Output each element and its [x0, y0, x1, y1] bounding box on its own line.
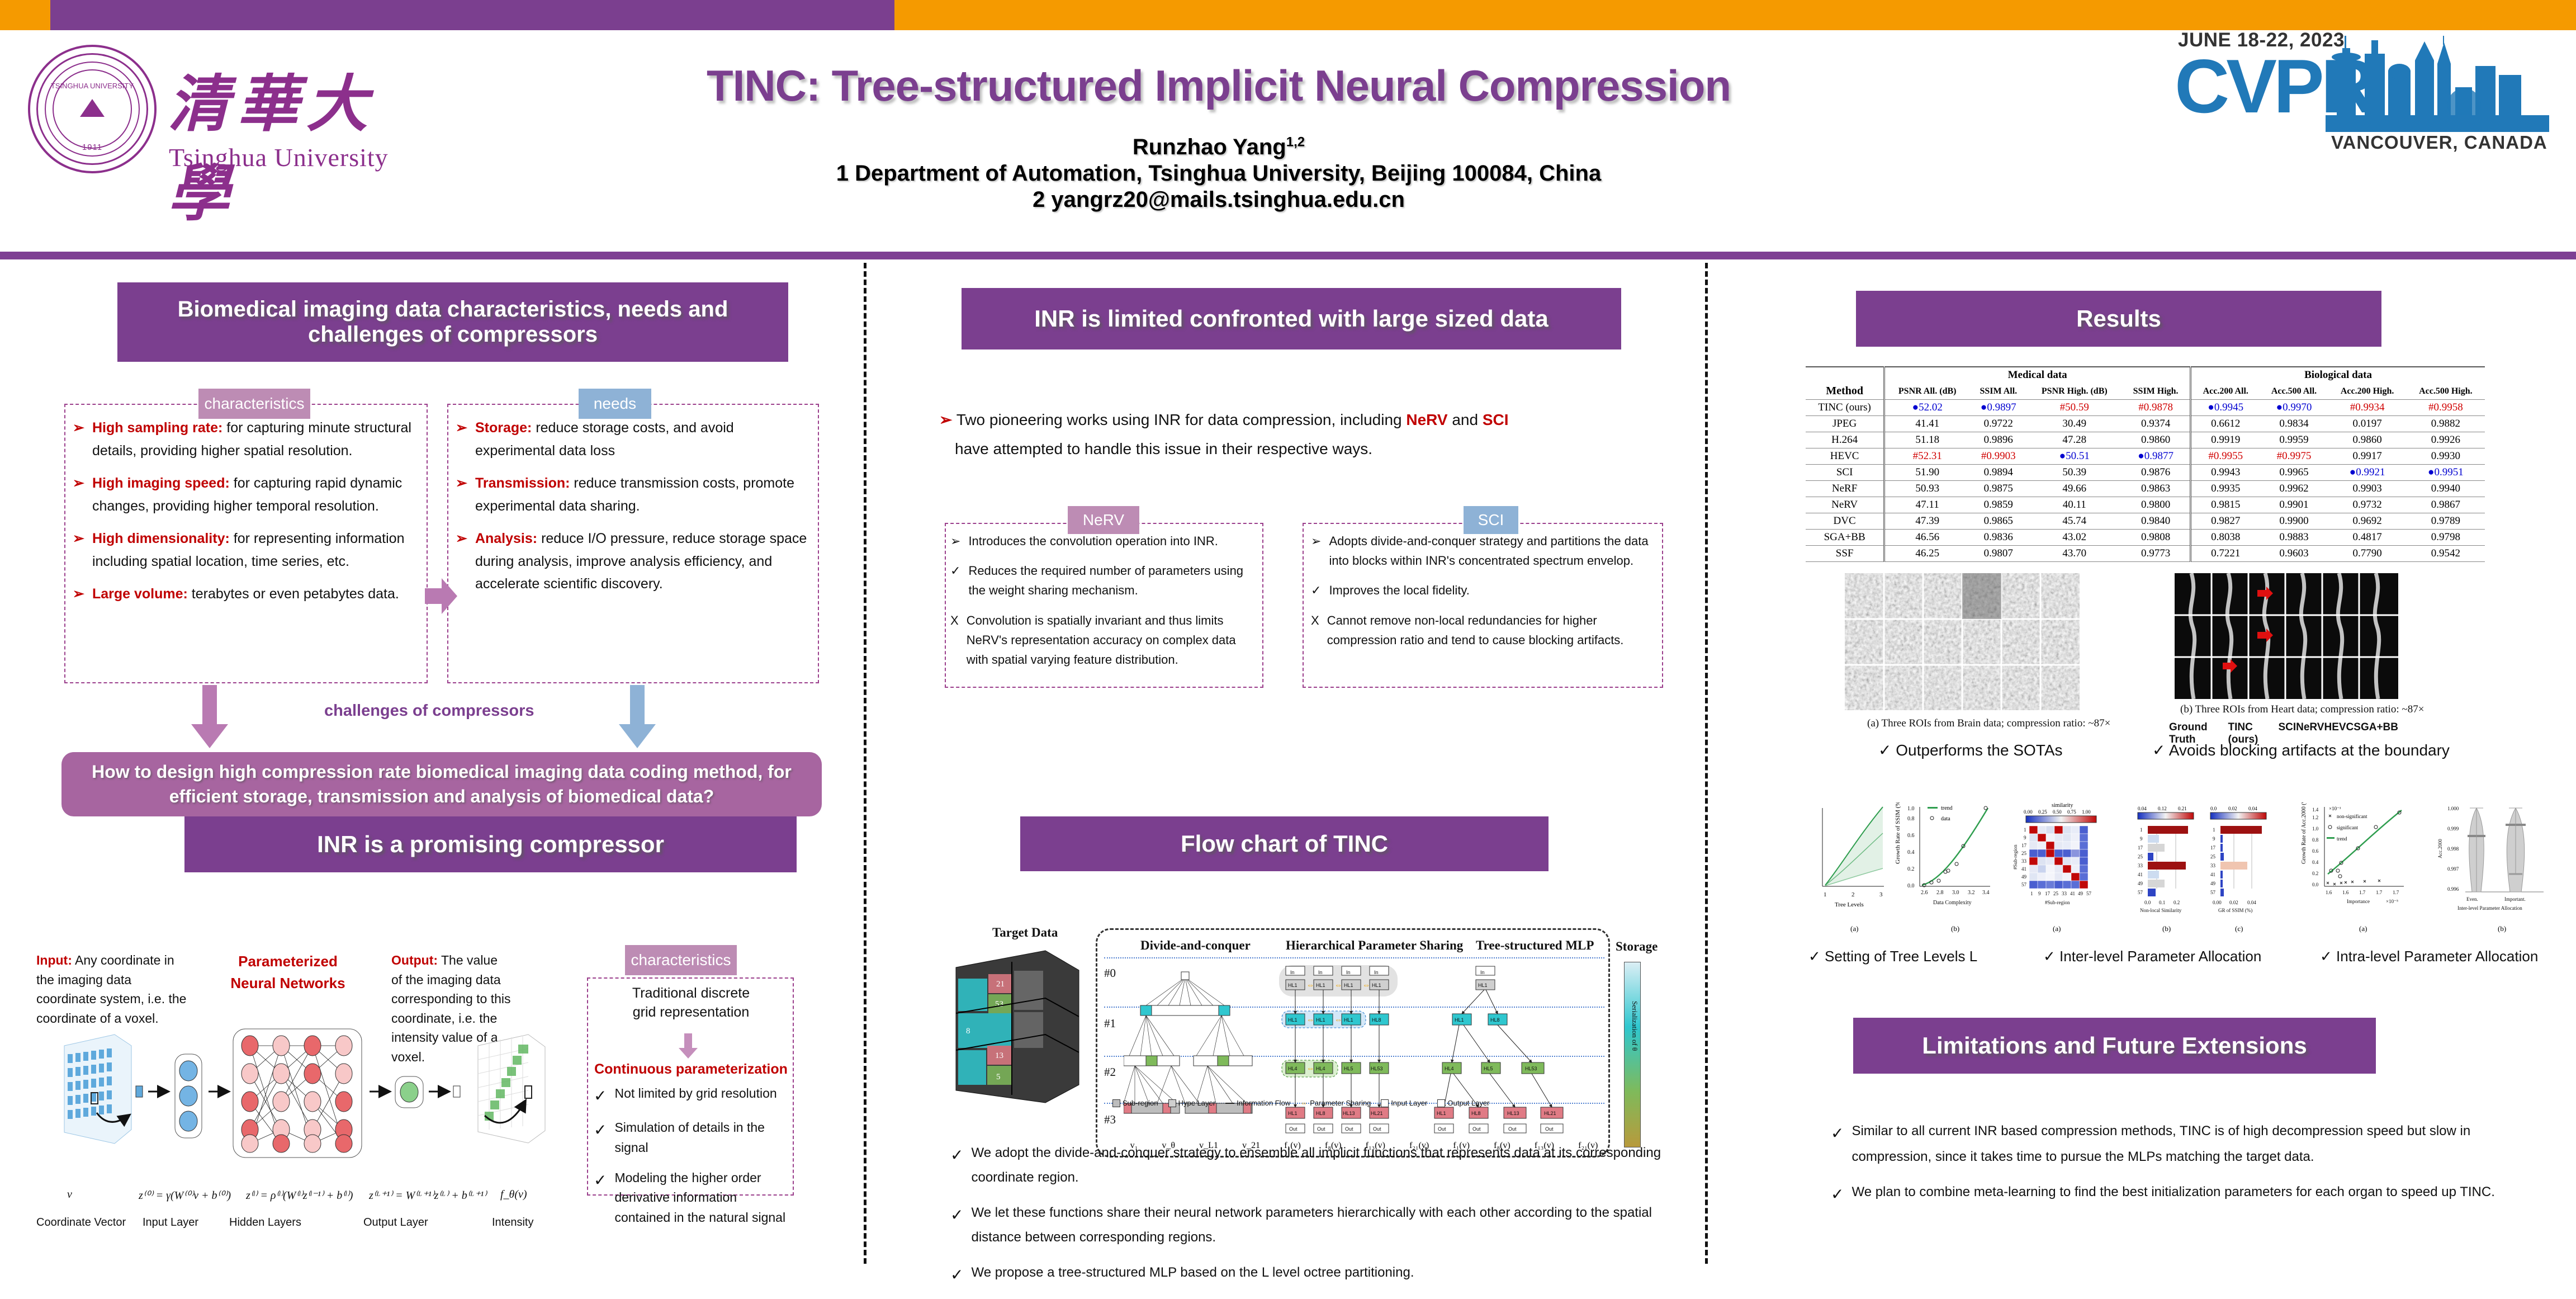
- table-cell: ●0.9921: [2328, 465, 2407, 481]
- table-cell: 43.70: [2027, 546, 2122, 562]
- table-cell: 0.9827: [2191, 513, 2260, 530]
- table-cell: 0.9940: [2407, 481, 2485, 497]
- banner-limitations: Limitations and Future Extensions: [1853, 1018, 2376, 1074]
- svg-text:53: 53: [995, 1000, 1003, 1009]
- table-cell: 0.9900: [2260, 513, 2328, 530]
- svg-text:0.1: 0.1: [2159, 900, 2165, 905]
- svg-text:9: 9: [2024, 835, 2026, 840]
- svg-text:(a): (a): [2053, 924, 2061, 933]
- check-icon: ✓: [950, 1201, 963, 1230]
- tag-needs: needs: [579, 389, 651, 419]
- svg-text:non-significant: non-significant: [2337, 814, 2367, 819]
- list-item: XConvolution is spatially invariant and …: [950, 611, 1258, 670]
- svg-text:49: 49: [2138, 881, 2143, 886]
- check-icon: ✓: [594, 1118, 607, 1142]
- table-cell: ●0.9897: [1969, 400, 2027, 416]
- svg-text:Out: Out: [1545, 1126, 1554, 1132]
- arrow-bullet-icon: ➢: [456, 527, 467, 550]
- table-cell: #0.9958: [2407, 400, 2485, 416]
- svg-text:1: 1: [2140, 827, 2143, 833]
- intensity-cube-icon: [478, 1035, 545, 1143]
- banner-inr-limited: INR is limited confronted with large siz…: [962, 288, 1621, 349]
- table-cell: 0.9903: [2328, 481, 2407, 497]
- arrow-bullet-icon: ➢: [456, 417, 467, 440]
- svg-text:⇔: ⇔: [1362, 980, 1370, 989]
- result-check-left: ✓ Outperforms the SOTAs: [1878, 741, 2063, 759]
- figlabel-intensity: Intensity: [492, 1216, 533, 1229]
- svg-text:In: In: [1346, 970, 1351, 975]
- svg-text:57: 57: [2210, 890, 2216, 895]
- svg-text:HL1: HL1: [1437, 1111, 1446, 1116]
- list-item: ✓Reduces the required number of paramete…: [950, 561, 1258, 600]
- col-header: Acc.500 All.: [2260, 383, 2328, 400]
- arrow-bullet-icon: ➢: [1311, 531, 1321, 551]
- tsinghua-logo: TSINGHUA UNIVERSITY 1911 清華大學 Tsinghua U…: [22, 39, 430, 201]
- table-cell: 50.93: [1884, 481, 1969, 497]
- svg-text:0.0: 0.0: [1907, 883, 1915, 889]
- table-cell: 0.9876: [2122, 465, 2190, 481]
- svg-text:17: 17: [2045, 891, 2051, 896]
- svg-text:49: 49: [2210, 881, 2216, 886]
- table-cell: 47.39: [1884, 513, 1969, 530]
- svg-text:HL1: HL1: [1288, 1017, 1298, 1023]
- svg-text:0.2: 0.2: [2173, 900, 2180, 905]
- col-header: PSNR All. (dB): [1884, 383, 1969, 400]
- table-cell: 0.7790: [2328, 546, 2407, 562]
- svg-text:0.04: 0.04: [2247, 900, 2256, 905]
- svg-text:0.996: 0.996: [2447, 886, 2459, 892]
- banner-results: Results: [1856, 291, 2381, 347]
- svg-text:0.04: 0.04: [2138, 806, 2147, 811]
- svg-text:HL4: HL4: [1445, 1066, 1454, 1071]
- svg-text:33: 33: [2138, 863, 2143, 868]
- table-cell: TINC (ours): [1806, 400, 1884, 416]
- svg-text:0.6: 0.6: [1907, 833, 1915, 839]
- svg-text:49: 49: [2078, 891, 2083, 896]
- svg-text:Out: Out: [1317, 1126, 1325, 1132]
- svg-text:(a): (a): [2359, 924, 2367, 933]
- svg-text:3: 3: [1879, 891, 1883, 898]
- list-item: ✓Similar to all current INR based compre…: [1831, 1118, 2549, 1169]
- table-cell: ●52.02: [1884, 400, 1969, 416]
- svg-text:0.50: 0.50: [2053, 809, 2062, 815]
- svg-text:33: 33: [2062, 891, 2067, 896]
- seal-word: TSINGHUA UNIVERSITY: [30, 82, 154, 90]
- svg-text:×10⁻⁵: ×10⁻⁵: [2386, 899, 2398, 904]
- affiliation-1: 1 Department of Automation, Tsinghua Uni…: [458, 160, 1979, 187]
- svg-text:data: data: [1941, 816, 1950, 822]
- list-item: ➢ High imaging speed: for capturing rapi…: [73, 472, 422, 517]
- arrow-bullet-icon: ➢: [939, 411, 952, 428]
- table-cell: #50.59: [2027, 400, 2122, 416]
- svg-text:HL13: HL13: [1507, 1111, 1519, 1116]
- table-cell: ●50.51: [2027, 448, 2122, 465]
- author-block: Runzhao Yang1,2 1 Department of Automati…: [458, 134, 1979, 212]
- svg-text:49: 49: [2021, 874, 2027, 880]
- check-icon: ✓: [950, 1141, 963, 1170]
- col-header: Method: [1806, 383, 1884, 400]
- table-cell: 0.9965: [2260, 465, 2328, 481]
- table-cell: JPEG: [1806, 416, 1884, 432]
- svg-text:(a): (a): [1850, 924, 1858, 933]
- col-header: Acc.200 All.: [2191, 383, 2260, 400]
- characteristics-list: ➢ High sampling rate: for capturing minu…: [73, 417, 422, 616]
- svg-text:0.00: 0.00: [2213, 900, 2222, 905]
- table-cell: HEVC: [1806, 448, 1884, 465]
- svg-text:0.75: 0.75: [2067, 809, 2076, 815]
- tag-sci: SCI: [1464, 506, 1518, 534]
- table-cell: 47.11: [1884, 497, 1969, 513]
- tsinghua-seal-icon: TSINGHUA UNIVERSITY 1911: [28, 45, 157, 173]
- svg-text:1.000: 1.000: [2447, 806, 2459, 811]
- table-cell: 0.9808: [2122, 530, 2190, 546]
- flowchart-level-0: #0: [1104, 966, 1116, 980]
- table-cell: ●0.9951: [2407, 465, 2485, 481]
- check-icon: ✓: [2152, 741, 2165, 759]
- intro-paragraph: ➢ Two pioneering works using INR for dat…: [939, 405, 1683, 464]
- svg-text:Even.: Even.: [2466, 896, 2478, 902]
- table-cell: 0.9917: [2328, 448, 2407, 465]
- table-cell: 0.9919: [2191, 432, 2260, 448]
- arrow-bullet-icon: ➢: [950, 531, 960, 551]
- table-cell: 0.9798: [2407, 530, 2485, 546]
- svg-text:1: 1: [2024, 827, 2026, 833]
- svg-text:HL5: HL5: [1344, 1066, 1353, 1071]
- svg-text:similarity: similarity: [2052, 802, 2073, 809]
- figlabel-coordinate-vector: Coordinate Vector: [36, 1216, 126, 1229]
- table-cell: #0.9934: [2328, 400, 2407, 416]
- svg-text:HL5: HL5: [1484, 1066, 1493, 1071]
- table-cell: 0.9789: [2407, 513, 2485, 530]
- table-cell: 45.74: [2027, 513, 2122, 530]
- svg-text:HL13: HL13: [1343, 1111, 1355, 1116]
- group-header-medical: Medical data: [1884, 367, 2191, 383]
- cvpr-city: VANCOUVER, CANADA: [2331, 132, 2547, 153]
- cross-icon: X: [950, 611, 959, 630]
- col-header: SSIM High.: [2122, 383, 2190, 400]
- formula-intensity: f_θ(v): [500, 1188, 527, 1201]
- figlabel-output-layer: Output Layer: [363, 1216, 428, 1229]
- tag-characteristics-2: characteristics: [625, 945, 737, 975]
- svg-text:0.0: 0.0: [2312, 882, 2319, 887]
- storage-colorbar: [1624, 962, 1641, 1147]
- flowchart-level-1: #1: [1104, 1017, 1116, 1031]
- flowchart-level-rule: [1104, 957, 1604, 958]
- svg-text:57: 57: [2086, 891, 2092, 896]
- table-cell: 0.9865: [1969, 513, 2027, 530]
- svg-text:57: 57: [2021, 882, 2027, 887]
- svg-text:0.12: 0.12: [2158, 806, 2167, 811]
- table-cell: 0.9603: [2260, 546, 2328, 562]
- svg-text:0.02: 0.02: [2228, 806, 2237, 811]
- needs-list: ➢ Storage: reduce storage costs, and avo…: [456, 417, 813, 606]
- table-cell: 0.9863: [2122, 481, 2190, 497]
- svg-text:33: 33: [2210, 863, 2216, 868]
- svg-text:1.6: 1.6: [2342, 890, 2349, 895]
- col-header: Acc.500 High.: [2407, 383, 2485, 400]
- svg-text:33: 33: [2021, 858, 2027, 864]
- coordinate-cube-icon: [64, 1035, 131, 1144]
- svg-text:Non-local Similarity: Non-local Similarity: [2140, 908, 2182, 913]
- inr-input-text: Input: Any coordinate in the imaging dat…: [36, 951, 187, 1028]
- table-cell: 51.90: [1884, 465, 1969, 481]
- table-cell: 0.9773: [2122, 546, 2190, 562]
- arrow-bullet-icon: ➢: [73, 527, 84, 550]
- svg-text:1.00: 1.00: [2082, 809, 2091, 815]
- list-item: ➢ High sampling rate: for capturing minu…: [73, 417, 422, 462]
- tag-nerv: NeRV: [1068, 506, 1139, 534]
- table-cell: 46.56: [1884, 530, 1969, 546]
- challenges-label: challenges of compressors: [324, 702, 534, 720]
- table-cell: 0.9722: [1969, 416, 2027, 432]
- svg-text:HL4: HL4: [1288, 1066, 1298, 1071]
- svg-text:1.7: 1.7: [2393, 890, 2399, 895]
- svg-text:Inter-level Parameter Allocati: Inter-level Parameter Allocation: [2457, 905, 2522, 911]
- svg-text:41: 41: [2021, 866, 2026, 872]
- list-item: ✓Improves the local fidelity.: [1311, 580, 1658, 600]
- svg-text:#Sub-region: #Sub-region: [2045, 900, 2070, 905]
- formula-input-layer: z⁽⁰⁾ = γ(W⁽⁰⁾v + b⁽⁰⁾): [139, 1188, 231, 1202]
- svg-text:Growth Rate of Acc.2000 (%): Growth Rate of Acc.2000 (%): [2301, 802, 2307, 864]
- svg-text:13: 13: [995, 1051, 1003, 1060]
- svg-text:0.999: 0.999: [2447, 826, 2459, 832]
- svg-text:(b): (b): [2162, 924, 2171, 933]
- flowchart-target-label: Target Data: [992, 925, 1058, 940]
- table-cell: DVC: [1806, 513, 1884, 530]
- svg-text:0.21: 0.21: [2178, 806, 2187, 811]
- table-cell: NeRV: [1806, 497, 1884, 513]
- table-cell: H.264: [1806, 432, 1884, 448]
- table-cell: 0.9959: [2260, 432, 2328, 448]
- svg-text:HL21: HL21: [1371, 1111, 1383, 1116]
- table-row: DVC47.390.986545.740.98400.98270.99000.9…: [1806, 513, 2485, 530]
- svg-text:trend: trend: [2337, 836, 2347, 842]
- list-item: ➢ High dimensionality: for representing …: [73, 527, 422, 573]
- svg-text:HL1: HL1: [1316, 982, 1325, 988]
- svg-text:HL1: HL1: [1372, 982, 1381, 988]
- list-item: ✓Simulation of details in the signal: [594, 1118, 790, 1158]
- svg-text:0.8: 0.8: [1907, 816, 1915, 822]
- arrow-down-icon: [618, 685, 657, 749]
- tag-characteristics: characteristics: [198, 389, 310, 419]
- check-icon: ✓: [950, 561, 960, 580]
- col-header: SSIM All.: [1969, 383, 2027, 400]
- figlabel-input-layer: Input Layer: [143, 1216, 198, 1229]
- vancouver-skyline-icon: [2326, 31, 2549, 132]
- svg-text:2.6: 2.6: [1921, 890, 1928, 896]
- list-item: ➢ Analysis: reduce I/O pressure, reduce …: [456, 527, 813, 596]
- table-cell: 0.9692: [2328, 513, 2407, 530]
- formula-coordinate: v: [67, 1188, 72, 1201]
- table-cell: 41.41: [1884, 416, 1969, 432]
- table-group-header-row: Medical dataBiological data: [1806, 367, 2485, 383]
- table-cell: 0.9875: [1969, 481, 2027, 497]
- svg-text:In: In: [1480, 970, 1485, 975]
- plot-caption-2: ✓ Inter-level Parameter Allocation: [2043, 948, 2261, 965]
- list-item: ➢ Storage: reduce storage costs, and avo…: [456, 417, 813, 462]
- results-table: Medical dataBiological dataMethodPSNR Al…: [1806, 366, 2485, 562]
- analysis-plots: 1 2 3 Tree Levels (a) 0.00.20.4 0.60.81.…: [1806, 802, 2549, 942]
- svg-text:trend: trend: [1941, 805, 1953, 811]
- sci-list: ➢Adopts divide-and-conquer strategy and …: [1311, 531, 1658, 660]
- table-row: NeRV47.110.985940.110.98000.98150.99010.…: [1806, 497, 2485, 513]
- svg-text:HL1: HL1: [1455, 1017, 1464, 1023]
- svg-text:0.998: 0.998: [2447, 846, 2459, 852]
- table-cell: 0.9815: [2191, 497, 2260, 513]
- svg-text:25: 25: [2210, 854, 2216, 859]
- table-cell: 0.9935: [2191, 481, 2260, 497]
- table-cell: #0.9955: [2191, 448, 2260, 465]
- svg-text:Data Complexity: Data Complexity: [1933, 900, 1972, 906]
- svg-text:0.04: 0.04: [2248, 806, 2257, 811]
- table-cell: 50.39: [2027, 465, 2122, 481]
- cross-icon: X: [1311, 611, 1319, 630]
- middle-bullets: ✓We adopt the divide-and-conquer strateg…: [950, 1141, 1688, 1299]
- table-cell: 0.9896: [1969, 432, 2027, 448]
- table-cell: SGA+BB: [1806, 530, 1884, 546]
- flowchart-diagram: ⇔⇔⇔ ⇔⇔ ⇔: [1124, 961, 1604, 1145]
- list-item: ✓Modeling the higher order derivative in…: [594, 1168, 790, 1228]
- limitations-list: ✓Similar to all current INR based compre…: [1831, 1118, 2549, 1219]
- table-cell: 0.9800: [2122, 497, 2190, 513]
- table-row: JPEG41.410.972230.490.93740.66120.98340.…: [1806, 416, 2485, 432]
- svg-text:Important.: Important.: [2504, 896, 2526, 902]
- svg-text:HL53: HL53: [1371, 1066, 1383, 1071]
- table-cell: SCI: [1806, 465, 1884, 481]
- university-name-en: Tsinghua University: [169, 143, 389, 172]
- svg-text:41: 41: [2210, 872, 2215, 877]
- svg-text:0.4: 0.4: [1907, 849, 1915, 856]
- svg-text:1: 1: [2213, 827, 2215, 833]
- column-divider-2: [1705, 263, 1708, 1264]
- formula-hidden-layer: z⁽ˡ⁾ = ρ⁽ˡ⁾(W⁽ˡ⁾z⁽ˡ⁻¹⁾ + b⁽ˡ⁾): [246, 1188, 353, 1202]
- svg-text:0.0: 0.0: [2210, 806, 2217, 811]
- svg-text:Out: Out: [1373, 1126, 1381, 1132]
- svg-text:5: 5: [996, 1073, 1001, 1081]
- star-icon: [80, 99, 105, 117]
- svg-text:0.25: 0.25: [2038, 809, 2047, 815]
- table-cell: 0.9943: [2191, 465, 2260, 481]
- svg-text:1.4: 1.4: [2312, 807, 2319, 813]
- table-row: HEVC#52.31#0.9903●50.51●0.9877#0.9955#0.…: [1806, 448, 2485, 465]
- table-cell: 0.9374: [2122, 416, 2190, 432]
- col-header: Acc.200 High.: [2328, 383, 2407, 400]
- header-divider: [0, 252, 2576, 259]
- svg-text:1.2: 1.2: [2312, 815, 2318, 820]
- table-cell: #0.9975: [2260, 448, 2328, 465]
- plot-caption-1: ✓ Setting of Tree Levels L: [1808, 948, 1977, 965]
- char2-list: ✓Not limited by grid resolution ✓Simulat…: [594, 1084, 790, 1238]
- formula-output-layer: z⁽ᴸ⁺¹⁾ = W⁽ᴸ⁺¹⁾z⁽ᴸ⁾ + b⁽ᴸ⁺¹⁾: [369, 1188, 486, 1202]
- inr-pipeline-figure: [31, 1023, 556, 1180]
- banner-flowchart: Flow chart of TINC: [1020, 816, 1549, 871]
- svg-text:1.0: 1.0: [2312, 826, 2319, 832]
- brain-roi-mosaic: [1845, 573, 2080, 710]
- svg-text:3.0: 3.0: [1952, 890, 1959, 896]
- table-cell: 0.6612: [2191, 416, 2260, 432]
- svg-text:Out: Out: [1508, 1126, 1517, 1132]
- table-cell: 0.8038: [2191, 530, 2260, 546]
- table-row: SCI51.900.989450.390.98760.99430.9965●0.…: [1806, 465, 2485, 481]
- svg-text:0.8: 0.8: [2312, 837, 2319, 843]
- arrow-bullet-icon: ➢: [73, 472, 84, 495]
- table-cell: 0.9836: [1969, 530, 2027, 546]
- check-icon: ✓: [594, 1168, 607, 1192]
- svg-text:1.6: 1.6: [2326, 890, 2332, 895]
- check-icon: ✓: [950, 1260, 963, 1289]
- svg-text:17: 17: [2138, 845, 2143, 851]
- svg-text:0.6: 0.6: [2312, 848, 2319, 854]
- svg-text:HL1: HL1: [1478, 982, 1488, 988]
- table-cell: 0.9882: [2407, 416, 2485, 432]
- svg-text:2.8: 2.8: [1936, 890, 1944, 896]
- seal-inner-ring: [53, 69, 132, 149]
- svg-text:17: 17: [2021, 843, 2027, 848]
- table-row: SSF46.250.980743.700.97730.72210.96030.7…: [1806, 546, 2485, 562]
- table-cell: ●0.9877: [2122, 448, 2190, 465]
- table-cell: NeRF: [1806, 481, 1884, 497]
- svg-text:HL1: HL1: [1288, 1111, 1298, 1116]
- svg-text:HL53: HL53: [1525, 1066, 1537, 1071]
- nerv-list: ➢Introduces the convolution operation in…: [950, 531, 1258, 679]
- check-icon: ✓: [2320, 948, 2332, 965]
- check-icon: ✓: [2043, 948, 2056, 965]
- svg-text:0.00: 0.00: [2024, 809, 2033, 815]
- poster-root: TSINGHUA UNIVERSITY 1911 清華大學 Tsinghua U…: [0, 0, 2576, 1288]
- list-item: ➢Adopts divide-and-conquer strategy and …: [1311, 531, 1658, 570]
- table-cell: 0.9859: [1969, 497, 2027, 513]
- check-icon: ✓: [1808, 948, 1821, 965]
- svg-text:In: In: [1374, 970, 1379, 975]
- table-cell: 0.7221: [2191, 546, 2260, 562]
- table-row: NeRF50.930.987549.660.98630.99350.99620.…: [1806, 481, 2485, 497]
- table-cell: 40.11: [2027, 497, 2122, 513]
- svg-text:17: 17: [2210, 845, 2216, 851]
- arrow-down-icon: [190, 685, 229, 749]
- banner-inr-promising: INR is a promising compressor: [184, 816, 797, 872]
- svg-text:HL8: HL8: [1372, 1017, 1381, 1023]
- svg-text:In: In: [1290, 970, 1295, 975]
- svg-text:⇔: ⇔: [1334, 980, 1342, 989]
- check-icon: ✓: [1831, 1179, 1844, 1209]
- svg-text:Importance: Importance: [2347, 899, 2370, 904]
- svg-text:⇔: ⇔: [1334, 1015, 1342, 1024]
- heart-roi-mosaic: [2175, 573, 2398, 699]
- list-item: ➢Introduces the convolution operation in…: [950, 531, 1258, 551]
- svg-text:3.4: 3.4: [1982, 890, 1990, 896]
- table-cell: SSF: [1806, 546, 1884, 562]
- flowchart-level-3: #3: [1104, 1113, 1116, 1127]
- svg-text:significant: significant: [2337, 825, 2358, 830]
- svg-text:GR of SSIM (%): GR of SSIM (%): [2218, 908, 2252, 913]
- check-icon: ✓: [1831, 1118, 1844, 1148]
- result-check-right: ✓ Avoids blocking artifacts at the bound…: [2152, 741, 2450, 759]
- check-icon: ✓: [1311, 580, 1321, 600]
- figlabel-hidden-layers: Hidden Layers: [229, 1216, 301, 1229]
- svg-text:0.997: 0.997: [2447, 866, 2459, 872]
- svg-text:HL4: HL4: [1316, 1066, 1325, 1071]
- svg-text:HL8: HL8: [1490, 1017, 1500, 1023]
- figure-caption-b: (b) Three ROIs from Heart data; compress…: [2180, 703, 2424, 716]
- svg-text:9: 9: [2140, 836, 2143, 842]
- svg-text:2: 2: [1851, 891, 1855, 898]
- svg-text:⇔: ⇔: [1306, 1015, 1314, 1024]
- char2-head: Continuous parameterization: [591, 1061, 790, 1078]
- list-item: ✓We adopt the divide-and-conquer strateg…: [950, 1141, 1688, 1191]
- flowchart-col-3: Tree-structured MLP: [1476, 938, 1594, 953]
- svg-text:Growth Rate of SSIM (%): Growth Rate of SSIM (%): [1895, 802, 1901, 864]
- svg-text:8: 8: [966, 1027, 970, 1036]
